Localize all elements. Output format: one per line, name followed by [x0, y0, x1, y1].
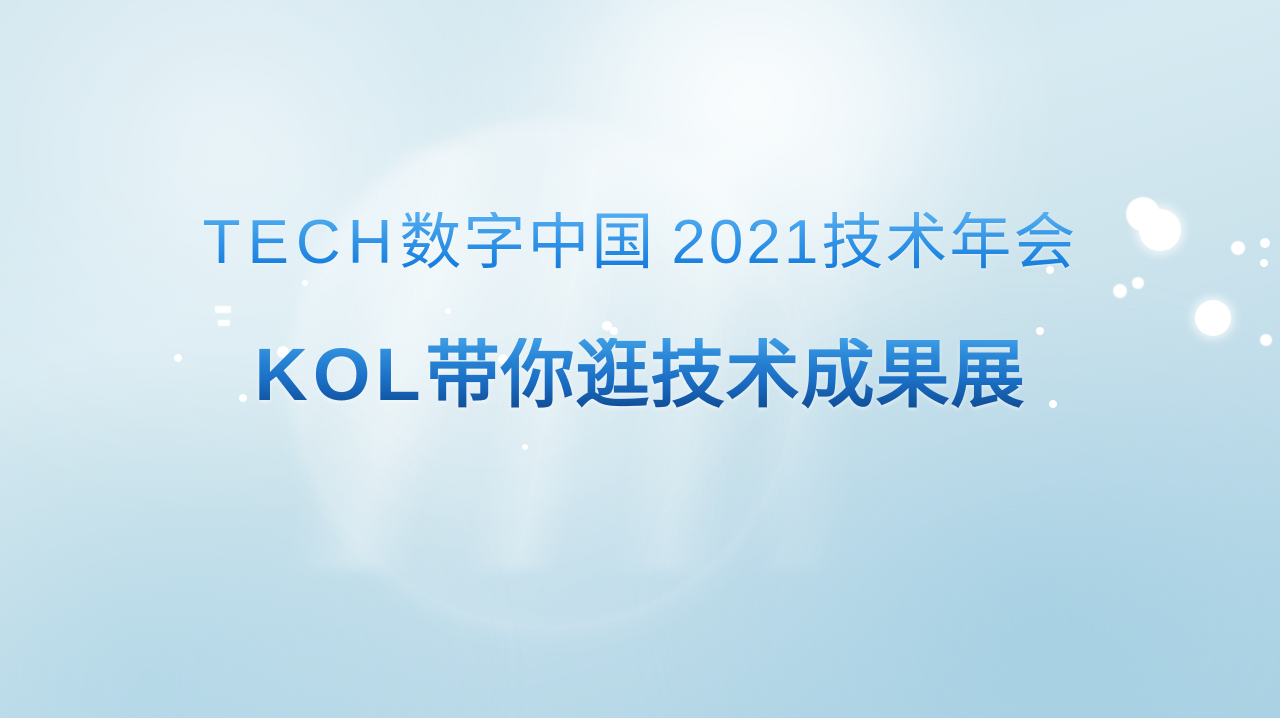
event-title-chinese-b: 技术年会	[821, 208, 1077, 277]
event-title-latin: TECH	[203, 208, 400, 277]
event-title-line1: TECH数字中国2021技术年会	[203, 212, 1078, 274]
event-subtitle-chinese: 带你逛技术成果展	[426, 333, 1026, 416]
event-subtitle-latin: KOL	[254, 333, 425, 416]
event-title-year: 2021	[671, 208, 821, 277]
event-subtitle-line2: KOL带你逛技术成果展	[254, 338, 1025, 412]
title-block: TECH数字中国2021技术年会 KOL带你逛技术成果展	[0, 0, 1280, 718]
event-title-chinese-a: 数字中国	[399, 208, 655, 277]
title-card-stage: TECH数字中国2021技术年会 KOL带你逛技术成果展	[0, 0, 1280, 718]
